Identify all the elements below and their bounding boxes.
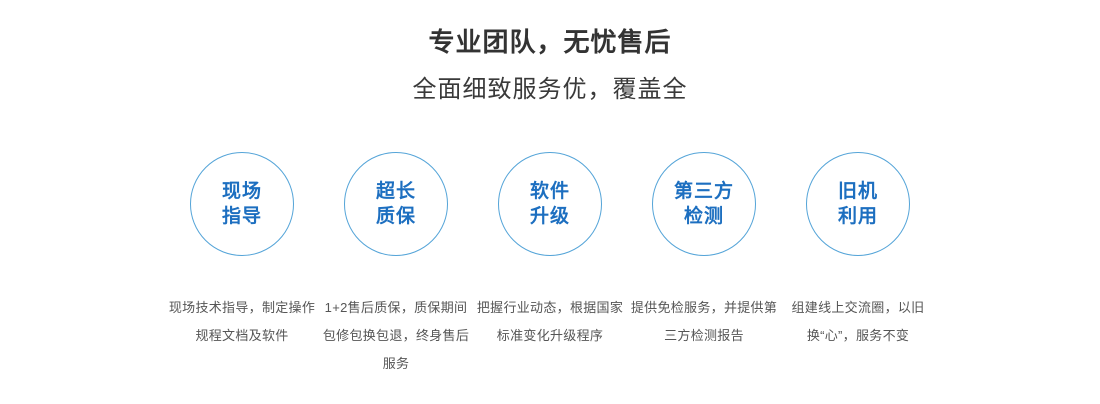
service-card-third-party-testing: 第三方 检测 提供免检服务，并提供第三方检测报告 xyxy=(627,152,781,350)
service-card-extended-warranty: 超长 质保 1+2售后质保，质保期间包修包换包退，终身售后服务 xyxy=(319,152,473,378)
service-card-trade-in: 旧机 利用 组建线上交流圈，以旧换“心”，服务不变 xyxy=(781,152,935,350)
circle-badge-extended-warranty: 超长 质保 xyxy=(344,152,448,256)
service-card-description: 现场技术指导，制定操作规程文档及软件 xyxy=(166,294,318,350)
circle-label-line1: 软件 xyxy=(530,179,570,204)
circle-label-line1: 旧机 xyxy=(838,179,878,204)
service-card-software-upgrade: 软件 升级 把握行业动态，根据国家标准变化升级程序 xyxy=(473,152,627,350)
circle-label-line1: 第三方 xyxy=(674,179,734,204)
circle-badge-third-party-testing: 第三方 检测 xyxy=(652,152,756,256)
service-card-description: 1+2售后质保，质保期间包修包换包退，终身售后服务 xyxy=(320,294,472,378)
service-card-description: 把握行业动态，根据国家标准变化升级程序 xyxy=(474,294,626,350)
circle-label-line2: 升级 xyxy=(530,204,570,229)
page-title: 专业团队，无忧售后 xyxy=(0,27,1100,57)
circle-label-line2: 检测 xyxy=(684,204,724,229)
circle-label-line2: 利用 xyxy=(838,204,878,229)
circle-badge-trade-in: 旧机 利用 xyxy=(806,152,910,256)
service-card-description: 组建线上交流圈，以旧换“心”，服务不变 xyxy=(782,294,934,350)
service-card-list: 现场 指导 现场技术指导，制定操作规程文档及软件 超长 质保 1+2售后质保，质… xyxy=(0,152,1100,378)
service-card-onsite-guidance: 现场 指导 现场技术指导，制定操作规程文档及软件 xyxy=(165,152,319,350)
circle-badge-software-upgrade: 软件 升级 xyxy=(498,152,602,256)
circle-label-line1: 超长 xyxy=(376,179,416,204)
service-promise-section: 专业团队，无忧售后 全面细致服务优，覆盖全 现场 指导 现场技术指导，制定操作规… xyxy=(0,0,1100,404)
service-card-description: 提供免检服务，并提供第三方检测报告 xyxy=(628,294,780,350)
circle-label-line2: 质保 xyxy=(376,204,416,229)
page-subtitle: 全面细致服务优，覆盖全 xyxy=(0,57,1100,105)
heading-block: 专业团队，无忧售后 全面细致服务优，覆盖全 xyxy=(0,0,1100,105)
circle-badge-onsite-guidance: 现场 指导 xyxy=(190,152,294,256)
circle-label-line2: 指导 xyxy=(222,204,262,229)
circle-label-line1: 现场 xyxy=(222,179,262,204)
